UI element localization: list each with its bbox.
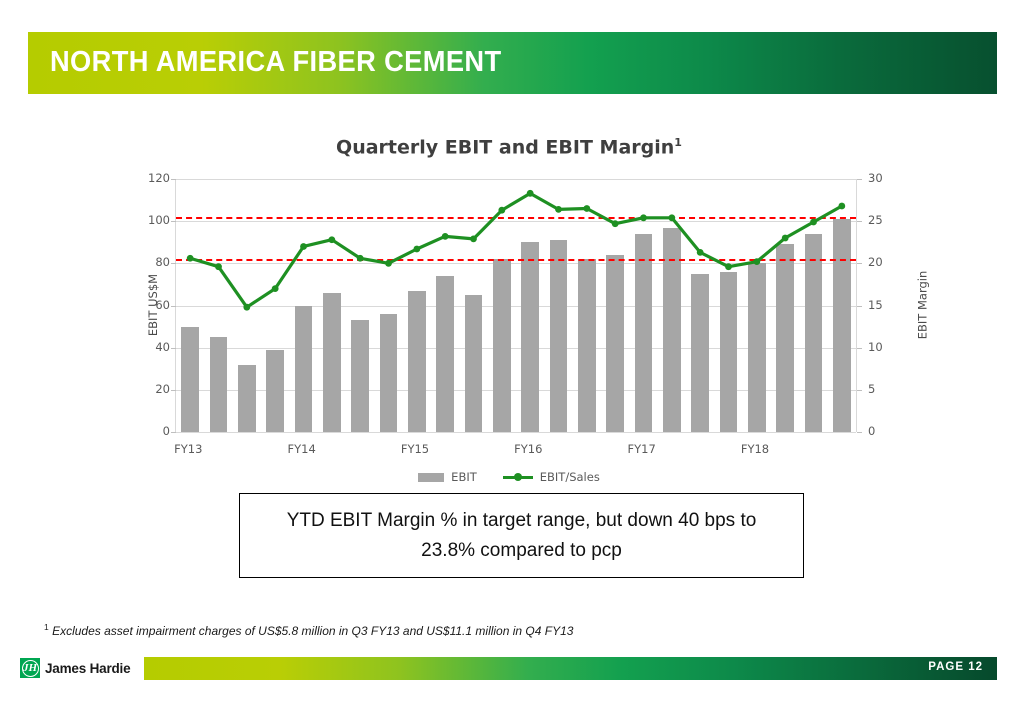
y-axis-left-tick-mark [171,221,176,222]
line-data-point: Q4 FY17: 19.6 [725,263,732,270]
y-axis-right-tick-label: 5 [868,382,875,396]
y-axis-left-tick-mark [171,179,176,180]
line-data-point: Q3 FY17: 21.3 [697,249,704,256]
y-axis-right-tick-label: 15 [868,298,883,312]
y-axis-right-tick-mark [857,263,862,264]
y-axis-left-tick-mark [171,390,176,391]
line-data-point: Q4 FY14: 20 [385,260,392,267]
footnote: 1 Excludes asset impairment charges of U… [44,622,573,638]
chart-title-footnote-marker: 1 [674,136,682,149]
page-number: PAGE 12 [928,661,983,673]
brand-logo: JH James Hardie [20,658,130,678]
legend-label-ebit-sales: EBIT/Sales [540,470,600,484]
line-data-point: Q4 FY16: 24.7 [612,220,619,227]
y-axis-left-tick-label: 20 [155,382,170,396]
line-data-point: Q4 FY18: 26.8 [838,203,845,210]
line-data-point: Q4 FY15: 26.3 [498,207,505,214]
line-data-point: Q4 FY13: 17 [272,285,279,292]
footnote-text: Excludes asset impairment charges of US$… [52,624,573,638]
chart-legend: EBIT EBIT/Sales [0,470,1018,484]
ebit-sales-line-series: Q1 FY13: 20.6Q2 FY13: 19.6Q3 FY13: 14.8Q… [176,179,856,432]
y-axis-right-tick-mark [857,306,862,307]
chart-title-text: Quarterly EBIT and EBIT Margin [336,136,674,158]
line-data-point: Q1 FY13: 20.6 [187,255,194,262]
x-axis-tick-label: FY13 [174,442,202,456]
page-title: NORTH AMERICA FIBER CEMENT [50,46,501,79]
line-data-point: Q3 FY13: 14.8 [243,304,250,311]
y-axis-right-tick-label: 0 [868,424,875,438]
y-axis-left-tick-label: 0 [163,424,170,438]
y-axis-left-tick-label: 120 [148,171,170,185]
x-axis-tick-label: FY14 [288,442,316,456]
line-data-point: Q2 FY16: 26.4 [555,206,562,213]
callout-line-1: YTD EBIT Margin % in target range, but d… [287,510,757,532]
header-banner: NORTH AMERICA FIBER CEMENT [28,32,997,94]
legend-label-ebit: EBIT [451,470,477,484]
line-data-point: Q3 FY15: 22.9 [470,235,477,242]
line-data-point: Q2 FY17: 25.4 [668,214,675,221]
chart-container: Quarterly EBIT and EBIT Margin1 EBIT US$… [0,118,1018,498]
line-data-point: Q2 FY14: 22.8 [328,236,335,243]
line-data-point: Q1 FY14: 22 [300,243,307,250]
line-data-point: Q1 FY15: 21.7 [413,246,420,253]
x-axis-tick-label: FY15 [401,442,429,456]
y-axis-left-tick-label: 80 [155,255,170,269]
gridline [176,432,856,433]
y-axis-left-tick-label: 40 [155,340,170,354]
chart-title: Quarterly EBIT and EBIT Margin1 [0,136,1018,158]
line-path [190,193,842,307]
line-data-point: Q2 FY15: 23.2 [442,233,449,240]
y-axis-left-tick-mark [171,263,176,264]
y-axis-right-tick-mark [857,432,862,433]
legend-bar-swatch-icon [418,473,444,482]
line-data-point: Q2 FY18: 23 [782,235,789,242]
line-data-point: Q2 FY13: 19.6 [215,263,222,270]
y-axis-right-tick-mark [857,390,862,391]
y-axis-right-tick-mark [857,221,862,222]
line-data-point: Q1 FY18: 20.2 [753,258,760,265]
legend-item-ebit: EBIT [418,470,477,484]
y-axis-title-right: EBIT Margin [915,271,929,340]
footnote-marker: 1 [44,622,49,632]
legend-line-swatch-icon [503,472,533,482]
line-data-point: Q1 FY16: 28.3 [527,190,534,197]
y-axis-left-tick-mark [171,432,176,433]
callout-box: YTD EBIT Margin % in target range, but d… [239,493,804,578]
footer-bar: PAGE 12 [144,657,997,680]
legend-item-ebit-sales: EBIT/Sales [503,470,600,484]
y-axis-right-tick-mark [857,348,862,349]
y-axis-right-tick-label: 20 [868,255,883,269]
james-hardie-logo-icon: JH [20,658,40,678]
line-data-point: Q3 FY16: 26.5 [583,205,590,212]
callout-line-2: 23.8% compared to pcp [421,540,622,562]
y-axis-left-tick-mark [171,306,176,307]
line-data-point: Q3 FY18: 24.9 [810,219,817,226]
y-axis-left-tick-label: 60 [155,298,170,312]
line-data-point: Q1 FY17: 25.4 [640,214,647,221]
line-data-point: Q3 FY14: 20.6 [357,255,364,262]
plot-area: Q1 FY13: 20.6Q2 FY13: 19.6Q3 FY13: 14.8Q… [176,179,856,432]
x-axis-tick-label: FY18 [741,442,769,456]
y-axis-left-tick-mark [171,348,176,349]
y-axis-right-tick-mark [857,179,862,180]
y-axis-right-tick-label: 25 [868,213,883,227]
logo-monogram: JH [22,660,39,677]
y-axis-left-tick-label: 100 [148,213,170,227]
y-axis-right-tick-label: 10 [868,340,883,354]
logo-text: James Hardie [45,661,130,676]
x-axis-tick-label: FY17 [628,442,656,456]
y-axis-right-tick-label: 30 [868,171,883,185]
x-axis-tick-label: FY16 [514,442,542,456]
